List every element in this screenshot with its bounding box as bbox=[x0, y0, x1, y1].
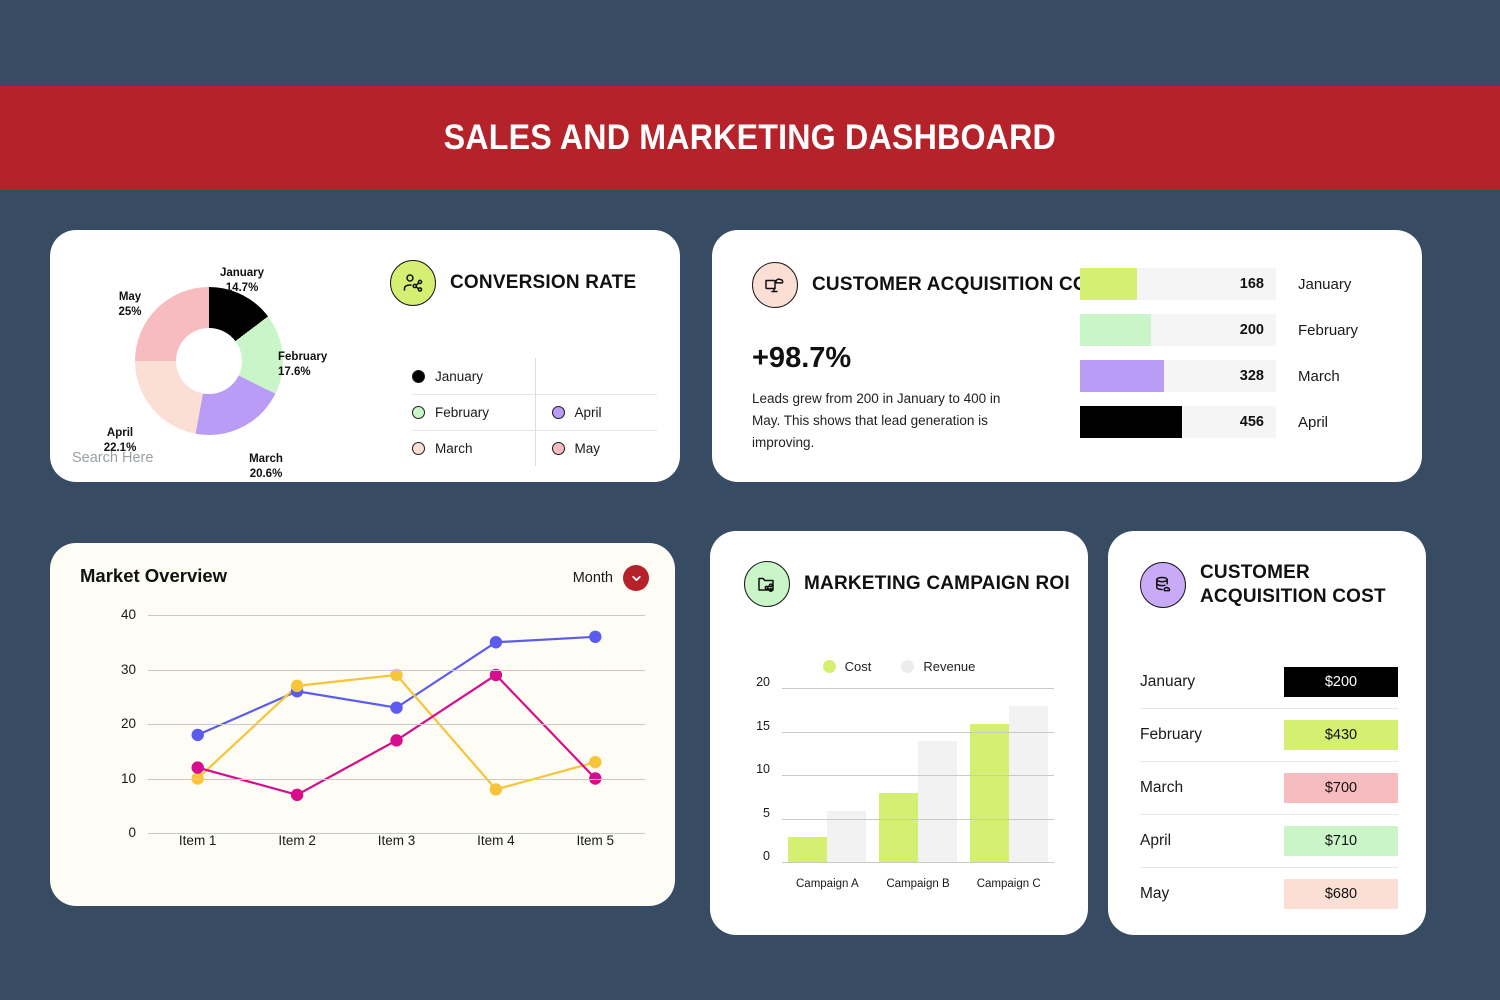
roi-bar-revenue bbox=[1009, 706, 1048, 863]
roi-y-axis-tick: 10 bbox=[736, 762, 770, 776]
cac-list-row-may: May $680 bbox=[1140, 867, 1398, 920]
cac-list-card: CUSTOMER ACQUISITION COST January $200 F… bbox=[1108, 531, 1426, 935]
legend-dot-january bbox=[412, 370, 425, 383]
cac-list-value-january: $200 bbox=[1284, 667, 1398, 697]
gridline bbox=[782, 862, 1054, 863]
y-axis-tick: 20 bbox=[80, 716, 136, 731]
cac-list-month-april: April bbox=[1140, 832, 1171, 850]
legend-label-may: May bbox=[575, 441, 601, 456]
legend-item-february[interactable]: February bbox=[412, 394, 535, 430]
cac-bar-row-february: 200 February bbox=[1080, 314, 1390, 346]
cac-bar-row-april: 456 April bbox=[1080, 406, 1390, 438]
cac-list-value-march: $700 bbox=[1284, 773, 1398, 803]
line-series bbox=[198, 637, 596, 735]
data-point bbox=[390, 669, 402, 681]
roi-bar-cost bbox=[879, 793, 918, 863]
cac-bar-row-march: 328 March bbox=[1080, 360, 1390, 392]
cac-description: Leads grew from 200 in January to 400 in… bbox=[752, 388, 1007, 454]
data-point bbox=[390, 734, 402, 746]
conversion-rate-card: January 14.7% February 17.6% March 20.6%… bbox=[50, 230, 680, 482]
month-selector-label: Month bbox=[573, 570, 613, 586]
bar-label-january: January bbox=[1276, 276, 1351, 293]
roi-xlabel-campaign-b: Campaign B bbox=[873, 878, 964, 890]
x-axis-tick: Item 3 bbox=[378, 833, 416, 848]
bar-value-january: 168 bbox=[1240, 276, 1276, 292]
gridline bbox=[148, 724, 645, 725]
cac-bar-list: 168 January 200 February 328 March bbox=[1080, 268, 1390, 452]
market-overview-line-chart: 010203040Item 1Item 2Item 3Item 4Item 5 bbox=[80, 611, 645, 861]
roi-y-axis-tick: 0 bbox=[736, 849, 770, 863]
cac-list-month-march: March bbox=[1140, 779, 1183, 797]
search-input[interactable]: Search Here bbox=[72, 450, 153, 466]
bar-track: 200 bbox=[1080, 314, 1276, 346]
bar-label-february: February bbox=[1276, 322, 1358, 339]
y-axis-tick: 40 bbox=[80, 607, 136, 622]
roi-card-header: MARKETING CAMPAIGN ROI bbox=[744, 561, 1070, 607]
market-overview-card: Market Overview Month 010203040Item 1Ite… bbox=[50, 543, 675, 906]
legend-item-april[interactable]: April bbox=[535, 394, 658, 430]
data-point bbox=[291, 789, 303, 801]
dashboard-root: SALES AND MARKETING DASHBOARD January 14… bbox=[0, 0, 1500, 1000]
roi-legend-label-cost: Cost bbox=[845, 659, 872, 674]
conversion-card-header: CONVERSION RATE bbox=[390, 260, 636, 306]
legend-label-march: March bbox=[435, 441, 473, 456]
roi-bar-group bbox=[873, 741, 964, 863]
bar-label-march: March bbox=[1276, 368, 1340, 385]
conversion-legend: January February April March May bbox=[412, 358, 657, 466]
data-point bbox=[589, 756, 601, 768]
database-cloud-icon bbox=[1140, 562, 1186, 608]
data-point bbox=[490, 636, 502, 648]
roi-bar-group bbox=[963, 706, 1054, 863]
y-axis-tick: 30 bbox=[80, 662, 136, 677]
x-axis-tick: Item 4 bbox=[477, 833, 515, 848]
roi-x-axis-labels: Campaign A Campaign B Campaign C bbox=[782, 878, 1054, 890]
x-axis-tick: Item 2 bbox=[278, 833, 316, 848]
x-axis-tick: Item 5 bbox=[577, 833, 615, 848]
x-axis-tick: Item 1 bbox=[179, 833, 217, 848]
month-selector[interactable]: Month bbox=[573, 565, 649, 591]
bar-value-march: 328 bbox=[1240, 368, 1276, 384]
data-point bbox=[490, 783, 502, 795]
legend-dot-march bbox=[412, 442, 425, 455]
bar-fill-april bbox=[1080, 406, 1182, 438]
legend-label-january: January bbox=[435, 369, 483, 384]
gridline bbox=[148, 670, 645, 671]
roi-legend-item-revenue[interactable]: Revenue bbox=[901, 659, 975, 674]
line-chart-svg bbox=[80, 611, 645, 861]
roi-y-axis-tick: 15 bbox=[736, 719, 770, 733]
conversion-card-title: CONVERSION RATE bbox=[450, 271, 636, 295]
roi-legend-label-revenue: Revenue bbox=[923, 659, 975, 674]
roi-y-axis-tick: 5 bbox=[736, 806, 770, 820]
conversion-donut-chart: January 14.7% February 17.6% March 20.6%… bbox=[72, 254, 362, 454]
roi-bar-chart: Campaign A Campaign B Campaign C 0510152… bbox=[736, 683, 1062, 898]
gridline bbox=[148, 615, 645, 616]
line-series bbox=[198, 675, 596, 789]
legend-label-april: April bbox=[575, 405, 602, 420]
roi-xlabel-campaign-c: Campaign C bbox=[963, 878, 1054, 890]
cac-metric-value: +98.7% bbox=[752, 342, 851, 375]
legend-item-january[interactable]: January bbox=[412, 358, 535, 394]
roi-legend-item-cost[interactable]: Cost bbox=[823, 659, 872, 674]
roi-bar-revenue bbox=[918, 741, 957, 863]
donut-label-january: January 14.7% bbox=[200, 266, 284, 295]
donut-label-february: February 17.6% bbox=[278, 350, 364, 379]
cac-summary-header: CUSTOMER ACQUISITION COST bbox=[752, 262, 1113, 308]
bar-track: 456 bbox=[1080, 406, 1276, 438]
cac-list-month-january: January bbox=[1140, 673, 1195, 691]
data-point bbox=[291, 680, 303, 692]
header-banner: SALES AND MARKETING DASHBOARD bbox=[0, 86, 1500, 190]
roi-bar-group-container bbox=[782, 689, 1054, 863]
cac-list-row-january: January $200 bbox=[1140, 655, 1398, 708]
roi-legend-dot-cost bbox=[823, 660, 836, 673]
folder-share-icon bbox=[744, 561, 790, 607]
cac-list-value-april: $710 bbox=[1284, 826, 1398, 856]
donut-label-march: March 20.6% bbox=[224, 452, 308, 481]
monitor-cloud-icon bbox=[752, 262, 798, 308]
roi-card-title: MARKETING CAMPAIGN ROI bbox=[804, 572, 1070, 596]
legend-item-march[interactable]: March bbox=[412, 430, 535, 466]
legend-item-may[interactable]: May bbox=[535, 430, 658, 466]
bar-label-april: April bbox=[1276, 414, 1328, 431]
bar-fill-january bbox=[1080, 268, 1137, 300]
user-share-icon bbox=[390, 260, 436, 306]
bar-fill-february bbox=[1080, 314, 1151, 346]
roi-legend: Cost Revenue bbox=[710, 659, 1088, 674]
gridline bbox=[782, 775, 1054, 776]
data-point bbox=[192, 761, 204, 773]
roi-bar-cost bbox=[970, 724, 1009, 863]
cac-summary-title: CUSTOMER ACQUISITION COST bbox=[812, 273, 1113, 297]
roi-xlabel-campaign-a: Campaign A bbox=[782, 878, 873, 890]
cac-list-month-may: May bbox=[1140, 885, 1169, 903]
cac-list-row-march: March $700 bbox=[1140, 761, 1398, 814]
cac-month-list: January $200 February $430 March $700 Ap… bbox=[1140, 655, 1398, 920]
roi-legend-dot-revenue bbox=[901, 660, 914, 673]
gridline bbox=[782, 819, 1054, 820]
cac-list-value-february: $430 bbox=[1284, 720, 1398, 750]
legend-spacer bbox=[535, 358, 658, 394]
y-axis-tick: 0 bbox=[80, 825, 136, 840]
page-title: SALES AND MARKETING DASHBOARD bbox=[444, 118, 1056, 158]
donut-label-may: May 25% bbox=[94, 290, 166, 319]
legend-label-february: February bbox=[435, 405, 489, 420]
bar-value-april: 456 bbox=[1240, 414, 1276, 430]
data-point bbox=[490, 669, 502, 681]
cac-list-title: CUSTOMER ACQUISITION COST bbox=[1200, 561, 1426, 610]
legend-dot-february bbox=[412, 406, 425, 419]
data-point bbox=[589, 631, 601, 643]
market-overview-title: Market Overview bbox=[80, 565, 227, 587]
cac-list-row-february: February $430 bbox=[1140, 708, 1398, 761]
bar-value-february: 200 bbox=[1240, 322, 1276, 338]
data-point bbox=[390, 701, 402, 713]
cac-list-month-february: February bbox=[1140, 726, 1202, 744]
roi-bar-cost bbox=[788, 837, 827, 863]
gridline bbox=[148, 779, 645, 780]
cac-list-row-april: April $710 bbox=[1140, 814, 1398, 867]
bar-fill-march bbox=[1080, 360, 1164, 392]
bar-track: 168 bbox=[1080, 268, 1276, 300]
cac-bar-row-january: 168 January bbox=[1080, 268, 1390, 300]
chevron-down-icon[interactable] bbox=[623, 565, 649, 591]
gridline bbox=[782, 732, 1054, 733]
data-point bbox=[192, 729, 204, 741]
cac-list-header: CUSTOMER ACQUISITION COST bbox=[1140, 561, 1426, 610]
marketing-roi-card: MARKETING CAMPAIGN ROI Cost Revenue Camp… bbox=[710, 531, 1088, 935]
cac-summary-card: CUSTOMER ACQUISITION COST +98.7% Leads g… bbox=[712, 230, 1422, 482]
roi-y-axis-tick: 20 bbox=[736, 675, 770, 689]
legend-dot-april bbox=[552, 406, 565, 419]
y-axis-tick: 10 bbox=[80, 771, 136, 786]
gridline bbox=[782, 688, 1054, 689]
bar-track: 328 bbox=[1080, 360, 1276, 392]
cac-list-value-may: $680 bbox=[1284, 879, 1398, 909]
legend-dot-may bbox=[552, 442, 565, 455]
